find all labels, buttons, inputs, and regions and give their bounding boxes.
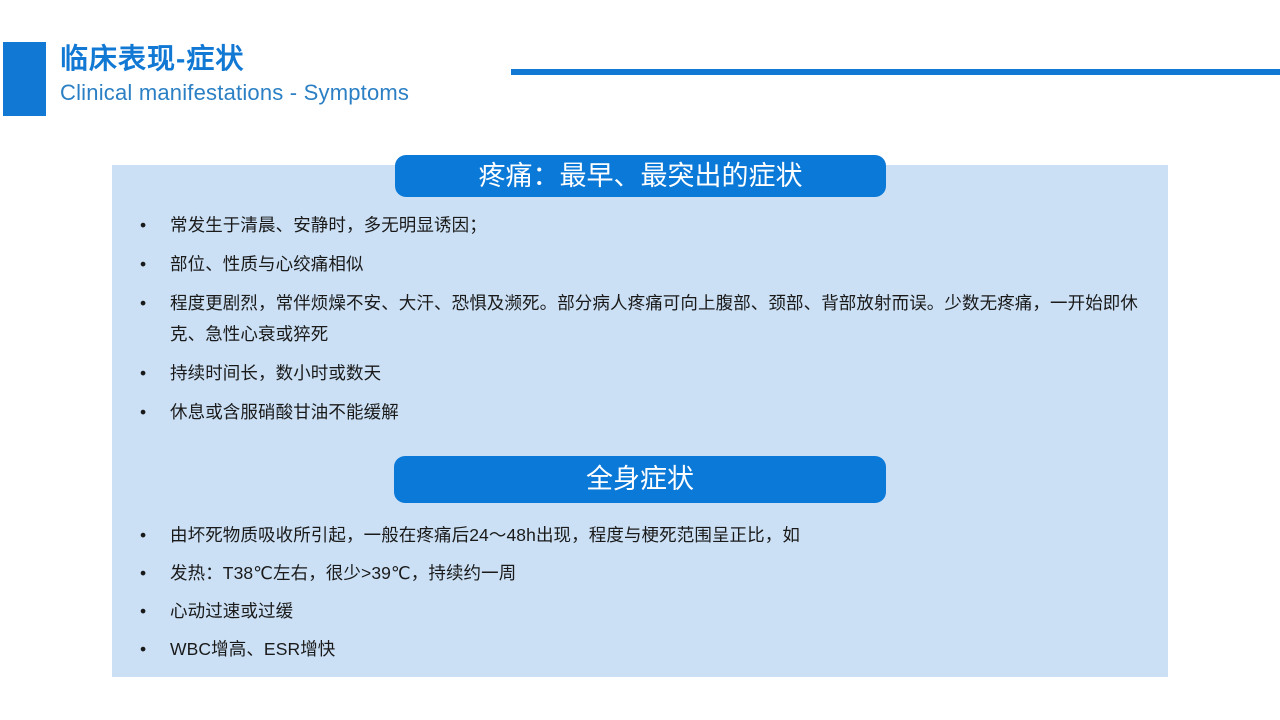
section-banner-pain: 疼痛：最早、最突出的症状 xyxy=(395,155,886,197)
header-title-block: 临床表现-症状 Clinical manifestations - Sympto… xyxy=(60,40,580,108)
bullet-marker-icon: • xyxy=(140,210,146,241)
list-item-text: WBC增高、ESR增快 xyxy=(170,634,1164,665)
bullet-marker-icon: • xyxy=(140,249,146,280)
section-banner-systemic: 全身症状 xyxy=(394,456,886,503)
list-item-text: 常发生于清晨、安静时，多无明显诱因； xyxy=(170,210,1164,241)
bullet-marker-icon: • xyxy=(140,358,146,389)
bullet-marker-icon: • xyxy=(140,558,146,589)
list-item: • 休息或含服硝酸甘油不能缓解 xyxy=(124,397,1164,428)
list-item-text: 部位、性质与心绞痛相似 xyxy=(170,249,1164,280)
list-item: • 持续时间长，数小时或数天 xyxy=(124,358,1164,389)
list-item: • WBC增高、ESR增快 xyxy=(124,634,1164,665)
list-item: • 部位、性质与心绞痛相似 xyxy=(124,249,1164,280)
bullet-marker-icon: • xyxy=(140,288,146,319)
list-item: • 程度更剧烈，常伴烦燥不安、大汗、恐惧及濒死。部分病人疼痛可向上腹部、颈部、背… xyxy=(124,288,1164,350)
bullet-list-pain: • 常发生于清晨、安静时，多无明显诱因； • 部位、性质与心绞痛相似 • 程度更… xyxy=(112,210,1168,436)
bullet-marker-icon: • xyxy=(140,596,146,627)
list-item: • 常发生于清晨、安静时，多无明显诱因； xyxy=(124,210,1164,241)
list-item-text: 休息或含服硝酸甘油不能缓解 xyxy=(170,397,1164,428)
list-item-text: 心动过速或过缓 xyxy=(170,596,1164,627)
bullet-marker-icon: • xyxy=(140,397,146,428)
content-panel: 疼痛：最早、最突出的症状 • 常发生于清晨、安静时，多无明显诱因； • 部位、性… xyxy=(112,165,1168,677)
list-item: • 由坏死物质吸收所引起，一般在疼痛后24～48h出现，程度与梗死范围呈正比，如 xyxy=(124,520,1164,551)
list-item-text: 程度更剧烈，常伴烦燥不安、大汗、恐惧及濒死。部分病人疼痛可向上腹部、颈部、背部放… xyxy=(170,288,1164,350)
list-item-text: 由坏死物质吸收所引起，一般在疼痛后24～48h出现，程度与梗死范围呈正比，如 xyxy=(170,520,1164,551)
bullet-marker-icon: • xyxy=(140,520,146,551)
list-item: • 心动过速或过缓 xyxy=(124,596,1164,627)
header-divider-rule xyxy=(511,69,1280,75)
slide-header: 临床表现-症状 Clinical manifestations - Sympto… xyxy=(0,0,1280,140)
bullet-list-systemic: • 由坏死物质吸收所引起，一般在疼痛后24～48h出现，程度与梗死范围呈正比，如… xyxy=(112,520,1168,672)
list-item-text: 持续时间长，数小时或数天 xyxy=(170,358,1164,389)
page-title-cn: 临床表现-症状 xyxy=(60,40,580,78)
bullet-marker-icon: • xyxy=(140,634,146,665)
page-title-en: Clinical manifestations - Symptoms xyxy=(60,78,580,108)
list-item: • 发热：T38℃左右，很少>39℃，持续约一周 xyxy=(124,558,1164,589)
header-accent-square xyxy=(3,42,46,116)
list-item-text: 发热：T38℃左右，很少>39℃，持续约一周 xyxy=(170,558,1164,589)
